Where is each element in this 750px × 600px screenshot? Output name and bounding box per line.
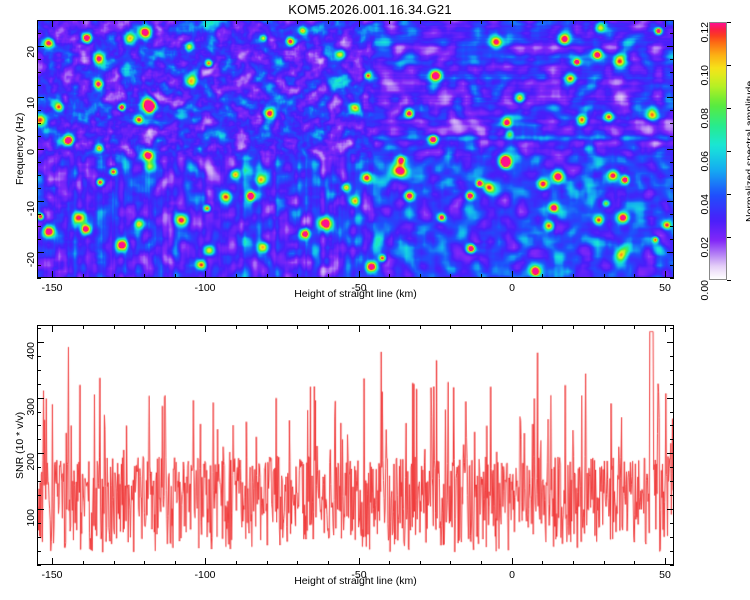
axis-tick [205, 20, 206, 27]
axis-tick [389, 561, 390, 565]
axis-tick [297, 325, 298, 329]
axis-tick [670, 565, 674, 566]
axis-tick [175, 561, 176, 565]
axis-tick [634, 20, 635, 24]
axis-tick [205, 558, 206, 565]
axis-tick [37, 551, 41, 552]
axis-tick [328, 274, 329, 278]
axis-tick [328, 325, 329, 329]
axis-tick [667, 509, 674, 510]
axis-tick [37, 439, 41, 440]
axis-tick [573, 274, 574, 278]
axis-tick [297, 20, 298, 24]
axis-tick [604, 20, 605, 24]
axis-tick [420, 20, 421, 24]
axis-tick-label: 400 [11, 342, 51, 382]
figure-root: KOM5.2026.001.16.34.G21 -150-100-50050-2… [0, 0, 750, 600]
axis-tick [37, 20, 41, 21]
axis-tick [175, 325, 176, 329]
axis-tick [670, 523, 674, 524]
axis-tick [83, 325, 84, 329]
axis-tick [114, 561, 115, 565]
axis-tick [52, 20, 53, 27]
axis-tick [670, 328, 674, 329]
axis-tick [175, 274, 176, 278]
axis-tick [727, 151, 731, 152]
colorbar-tick-label: 0.02 [685, 237, 725, 277]
axis-tick [359, 20, 360, 27]
axis-tick [37, 328, 41, 329]
axis-tick [604, 561, 605, 565]
axis-tick [512, 271, 513, 278]
axis-tick [634, 274, 635, 278]
axis-tick [670, 175, 674, 176]
axis-tick [52, 271, 53, 278]
axis-tick [114, 20, 115, 24]
axis-tick [359, 271, 360, 278]
axis-tick [670, 85, 674, 86]
axis-tick [328, 561, 329, 565]
snr-y-axis-label: SNR (10 * v/v) [14, 411, 26, 478]
axis-tick [667, 149, 674, 150]
axis-tick [727, 22, 731, 23]
axis-tick [670, 226, 674, 227]
axis-tick [205, 271, 206, 278]
axis-tick [665, 558, 666, 565]
axis-tick [328, 20, 329, 24]
axis-tick [727, 237, 731, 238]
spectrogram-y-axis-label: Frequency (Hz) [14, 113, 26, 185]
axis-tick [634, 561, 635, 565]
axis-tick [665, 325, 666, 332]
axis-tick [634, 325, 635, 329]
axis-tick [481, 561, 482, 565]
axis-tick [670, 439, 674, 440]
axis-tick [670, 123, 674, 124]
axis-tick [670, 384, 674, 385]
axis-tick [267, 20, 268, 24]
spectrogram-image [38, 21, 673, 277]
axis-tick [670, 495, 674, 496]
axis-tick [670, 59, 674, 60]
axis-tick [604, 274, 605, 278]
snr-x-axis-label: Height of straight line (km) [0, 575, 711, 587]
axis-tick [665, 20, 666, 27]
axis-tick [450, 561, 451, 565]
axis-tick [670, 265, 674, 266]
axis-tick [114, 325, 115, 329]
axis-tick [144, 561, 145, 565]
snr-panel [37, 325, 674, 565]
colorbar-tick-label: 0.06 [685, 151, 725, 191]
axis-tick [667, 398, 674, 399]
axis-tick [670, 537, 674, 538]
axis-tick [670, 136, 674, 137]
axis-tick [37, 495, 41, 496]
axis-tick [542, 20, 543, 24]
axis-tick [727, 65, 731, 66]
axis-tick [512, 558, 513, 565]
axis-tick [573, 325, 574, 329]
snr-trace-plot [38, 326, 673, 564]
axis-tick [52, 558, 53, 565]
axis-tick [83, 561, 84, 565]
axis-tick [670, 467, 674, 468]
axis-tick [670, 110, 674, 111]
axis-tick [670, 278, 674, 279]
axis-tick [667, 342, 674, 343]
spectrogram-x-axis-label: Height of straight line (km) [0, 288, 711, 300]
axis-tick [542, 325, 543, 329]
axis-tick [267, 274, 268, 278]
axis-tick [670, 412, 674, 413]
axis-tick [667, 46, 674, 47]
axis-tick [573, 20, 574, 24]
axis-tick [267, 325, 268, 329]
axis-tick [665, 271, 666, 278]
axis-tick [389, 274, 390, 278]
axis-tick [670, 370, 674, 371]
spectrogram-panel [37, 20, 674, 278]
axis-tick [670, 239, 674, 240]
axis-tick [267, 561, 268, 565]
axis-tick [450, 274, 451, 278]
axis-tick [670, 162, 674, 163]
axis-tick [670, 72, 674, 73]
axis-tick [83, 20, 84, 24]
axis-tick [236, 561, 237, 565]
axis-tick [667, 252, 674, 253]
axis-tick [727, 108, 731, 109]
axis-tick [573, 561, 574, 565]
axis-tick [359, 558, 360, 565]
axis-tick-label: -10 [11, 201, 51, 241]
colorbar-tick-label: 0.08 [685, 108, 725, 148]
axis-tick [670, 188, 674, 189]
axis-tick [389, 20, 390, 24]
axis-tick [670, 425, 674, 426]
axis-tick [37, 33, 41, 34]
axis-tick [359, 325, 360, 332]
axis-tick [52, 325, 53, 332]
axis-tick [420, 561, 421, 565]
axis-tick [667, 97, 674, 98]
axis-tick [114, 274, 115, 278]
axis-tick [481, 20, 482, 24]
axis-tick [144, 274, 145, 278]
axis-tick [512, 20, 513, 27]
axis-tick [512, 325, 513, 332]
axis-tick [670, 481, 674, 482]
axis-tick [236, 20, 237, 24]
colorbar-tick-label: 0.12 [685, 22, 725, 62]
axis-tick-label: 20 [11, 46, 51, 86]
axis-tick [37, 384, 41, 385]
axis-tick [144, 325, 145, 329]
axis-tick [175, 20, 176, 24]
axis-tick [205, 325, 206, 332]
axis-tick [670, 33, 674, 34]
axis-tick [604, 325, 605, 329]
axis-tick [83, 274, 84, 278]
colorbar-tick-label: 0.04 [685, 194, 725, 234]
axis-tick [420, 274, 421, 278]
axis-tick-label: 100 [11, 509, 51, 549]
axis-tick [670, 214, 674, 215]
axis-tick [670, 356, 674, 357]
axis-tick [450, 325, 451, 329]
colorbar-tick-label: 0.10 [685, 65, 725, 105]
colorbar-tick-label: 0.00 [685, 280, 725, 320]
axis-tick [37, 565, 41, 566]
axis-tick [297, 274, 298, 278]
axis-tick [667, 453, 674, 454]
axis-tick [670, 20, 674, 21]
axis-tick [481, 274, 482, 278]
page-title: KOM5.2026.001.16.34.G21 [0, 2, 740, 17]
axis-tick [670, 551, 674, 552]
axis-tick [389, 325, 390, 329]
axis-tick [420, 325, 421, 329]
axis-tick-label: -20 [11, 252, 51, 292]
axis-tick [667, 201, 674, 202]
axis-tick [481, 325, 482, 329]
axis-tick [236, 274, 237, 278]
axis-tick [727, 194, 731, 195]
axis-tick [144, 20, 145, 24]
axis-tick [727, 280, 731, 281]
colorbar-label: Normalized spectral amplitude [744, 80, 750, 221]
axis-tick [450, 20, 451, 24]
axis-tick [542, 274, 543, 278]
axis-tick [297, 561, 298, 565]
axis-tick [542, 561, 543, 565]
axis-tick [236, 325, 237, 329]
